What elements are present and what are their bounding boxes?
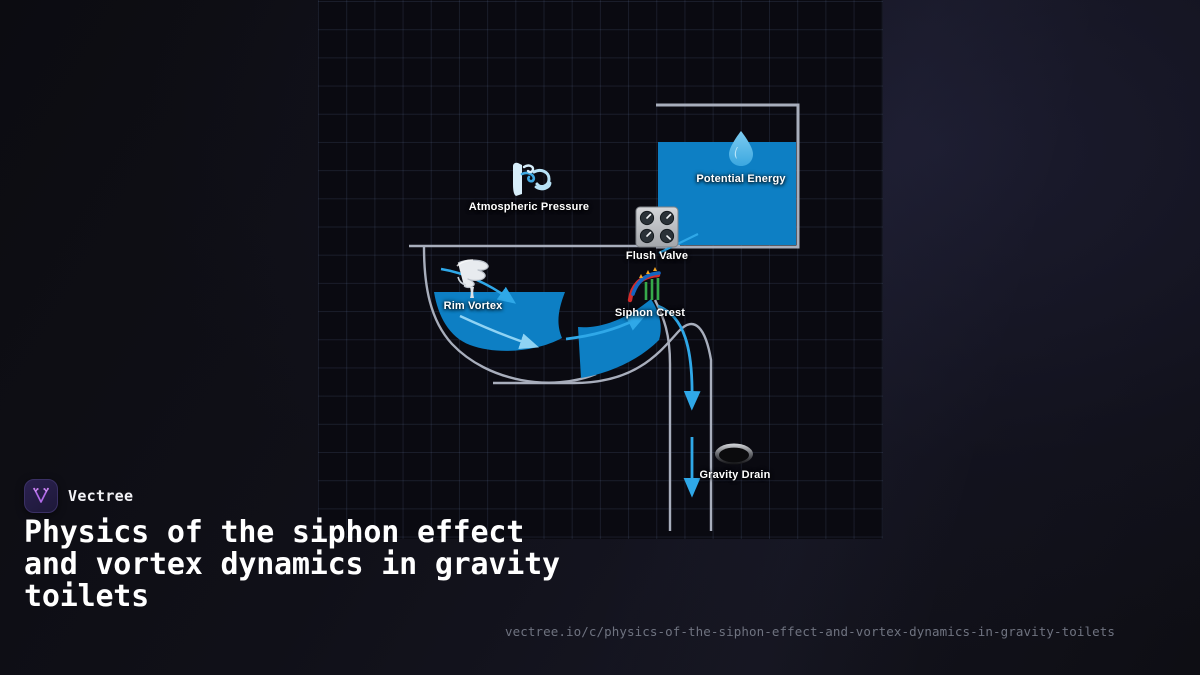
- trapway-water-body: [578, 299, 661, 378]
- roller-coaster-icon: [630, 267, 659, 300]
- drain-hole-icon: [715, 444, 753, 465]
- vectree-v-logo-icon: [24, 479, 58, 513]
- page-title: Physics of the siphon effect and vortex …: [24, 517, 584, 613]
- brand-name: Vectree: [68, 487, 133, 505]
- bowl-water-body: [434, 292, 565, 351]
- page-url: vectree.io/c/physics-of-the-siphon-effec…: [505, 624, 1115, 639]
- water-drop-icon: [729, 131, 753, 166]
- logo-glyph: [31, 486, 51, 506]
- wind-blow-icon: [513, 163, 550, 196]
- tank-water-fill: [658, 142, 796, 245]
- brand-lockup[interactable]: Vectree: [24, 479, 133, 513]
- control-knobs-panel-icon: [636, 207, 678, 247]
